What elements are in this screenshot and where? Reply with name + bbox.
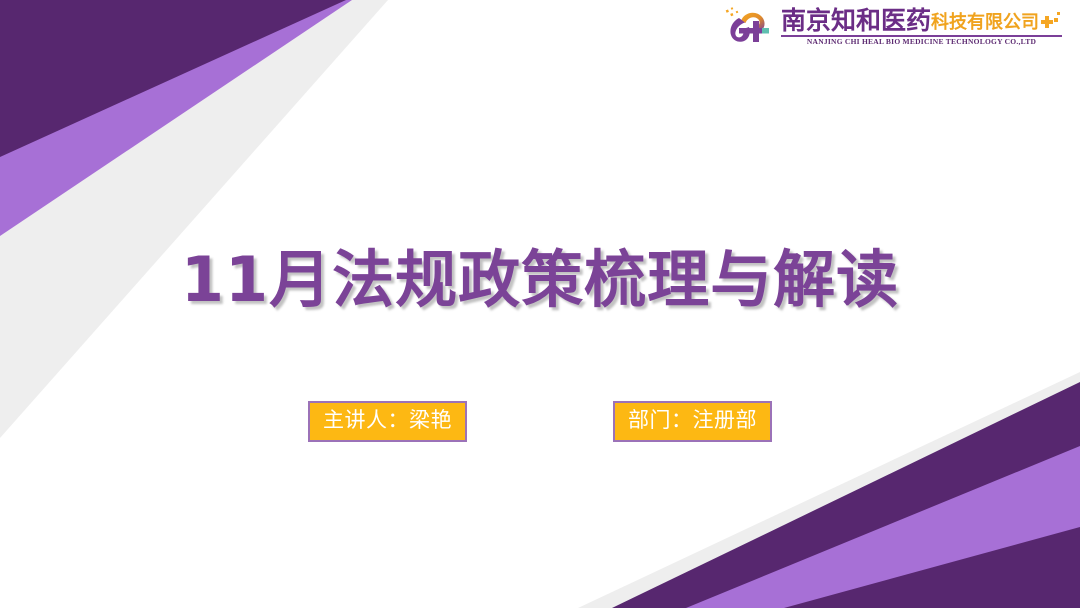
- bottom-right-dark-purple-band-inner: [784, 527, 1080, 608]
- logo-company-name-cn: 南京知和医药 科技有限公司: [781, 8, 1062, 33]
- badge-row: 主讲人：梁艳 部门：注册部: [0, 401, 1080, 442]
- bottom-right-light-purple-band: [686, 446, 1080, 608]
- logo-text-block: 南京知和医药 科技有限公司 NANJING CHI HEAL BIO MEDIC…: [781, 8, 1062, 46]
- h-monogram-logo-icon: [719, 6, 775, 48]
- department-badge: 部门：注册部: [613, 401, 772, 442]
- logo-company-name-en: NANJING CHI HEAL BIO MEDICINE TECHNOLOGY…: [781, 38, 1062, 46]
- speaker-badge: 主讲人：梁艳: [308, 401, 467, 442]
- top-left-gray-band: [0, 0, 388, 438]
- top-left-dark-purple-band: [0, 0, 346, 157]
- logo-company-name-main: 南京知和医药: [781, 8, 931, 33]
- company-logo: 南京知和医药 科技有限公司 NANJING CHI HEAL BIO MEDIC…: [719, 6, 1062, 48]
- top-left-light-purple-band: [0, 0, 352, 236]
- orange-plus-icon: [1040, 11, 1062, 33]
- logo-company-name-sub: 科技有限公司: [931, 14, 1039, 33]
- presentation-slide: 南京知和医药 科技有限公司 NANJING CHI HEAL BIO MEDIC…: [0, 0, 1080, 608]
- slide-title: 11月法规政策梳理与解读: [0, 247, 1080, 312]
